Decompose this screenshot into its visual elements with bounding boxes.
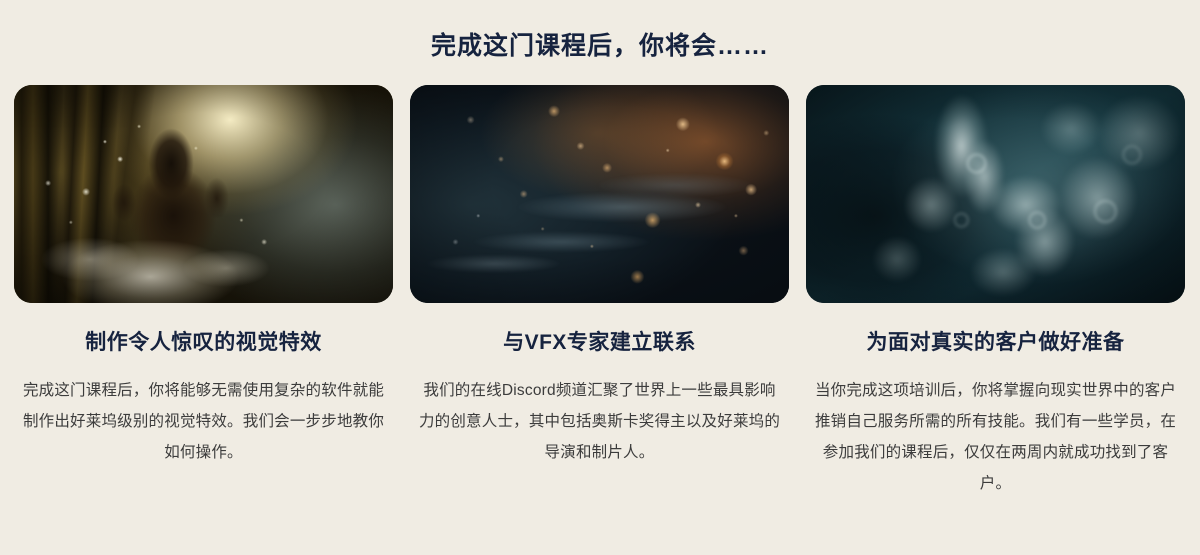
benefit-card-3-body: 当你完成这项培训后，你将掌握向现实世界中的客户推销自己服务所需的所有技能。我们有… (806, 375, 1185, 499)
vfx-white-smoke-image (806, 85, 1185, 303)
benefit-card-2-body: 我们的在线Discord频道汇聚了世界上一些最具影响力的创意人士，其中包括奥斯卡… (410, 375, 789, 468)
benefit-card-1-body: 完成这门课程后，你将能够无需使用复杂的软件就能制作出好莱坞级别的视觉特效。我们会… (14, 375, 393, 468)
benefit-card-3: 为面对真实的客户做好准备 当你完成这项培训后，你将掌握向现实世界中的客户推销自己… (806, 85, 1185, 499)
page-root: 完成这门课程后，你将会…… 制作令人惊叹的视觉特效 完成这门课程后，你将能够无需… (0, 0, 1200, 555)
image-vignette-layer (410, 85, 789, 303)
benefit-card-1-title: 制作令人惊叹的视觉特效 (14, 329, 393, 356)
benefit-card-2-title: 与VFX专家建立联系 (410, 329, 789, 356)
image-vignette-layer (806, 85, 1185, 303)
section-heading: 完成这门课程后，你将会…… (14, 0, 1186, 61)
image-vignette-layer (14, 85, 393, 303)
vfx-sparks-smoke-image (410, 85, 789, 303)
benefits-card-grid: 制作令人惊叹的视觉特效 完成这门课程后，你将能够无需使用复杂的软件就能制作出好莱… (14, 85, 1186, 499)
vfx-warrior-water-image (14, 85, 393, 303)
benefit-card-3-title: 为面对真实的客户做好准备 (806, 329, 1185, 356)
benefit-card-1: 制作令人惊叹的视觉特效 完成这门课程后，你将能够无需使用复杂的软件就能制作出好莱… (14, 85, 393, 499)
benefit-card-2: 与VFX专家建立联系 我们的在线Discord频道汇聚了世界上一些最具影响力的创… (410, 85, 789, 499)
